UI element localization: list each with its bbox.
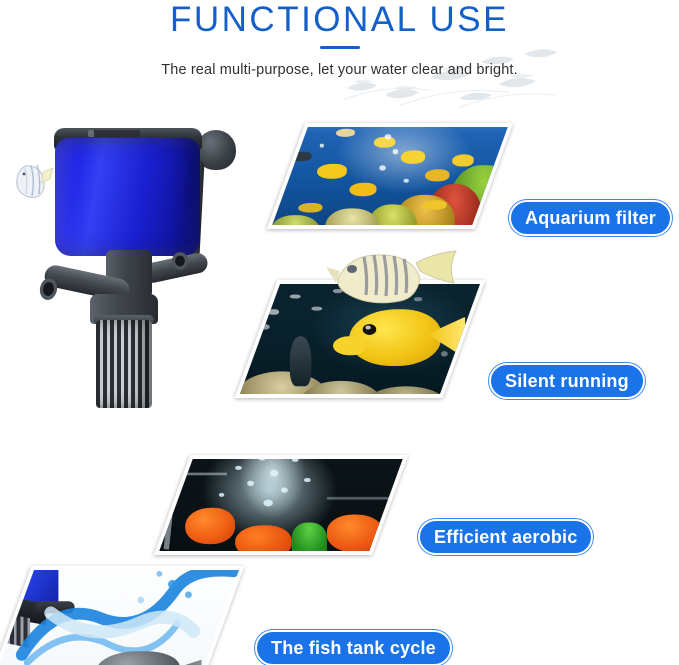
feature-photo-efficient-aerobic — [154, 455, 408, 555]
page-title: FUNCTIONAL USE — [0, 0, 679, 40]
page-subtitle: The real multi-purpose, let your water c… — [0, 60, 679, 80]
pump-blue-housing — [55, 138, 200, 256]
feature-badge-silent-running[interactable]: Silent running — [489, 363, 645, 399]
pump-vent-slots — [88, 130, 140, 137]
feature-photo-aquarium-filter — [267, 123, 514, 229]
header: FUNCTIONAL USE The real multi-purpose, l… — [0, 0, 679, 100]
angelfish-icon — [14, 160, 56, 200]
butterflyfish-icon — [316, 249, 464, 309]
pump-outlet-right-opening — [172, 252, 188, 270]
feature-badge-efficient-aerobic[interactable]: Efficient aerobic — [418, 519, 593, 555]
product-pump-image — [10, 112, 260, 412]
feature-badge-aquarium-filter[interactable]: Aquarium filter — [509, 200, 672, 236]
feature-badge-fish-tank-cycle[interactable]: The fish tank cycle — [255, 630, 452, 665]
pump-intake-strainer — [96, 320, 152, 408]
feature-photo-fish-tank-cycle — [0, 566, 244, 665]
title-divider — [320, 46, 360, 49]
marketing-banner: FUNCTIONAL USE The real multi-purpose, l… — [0, 0, 679, 665]
